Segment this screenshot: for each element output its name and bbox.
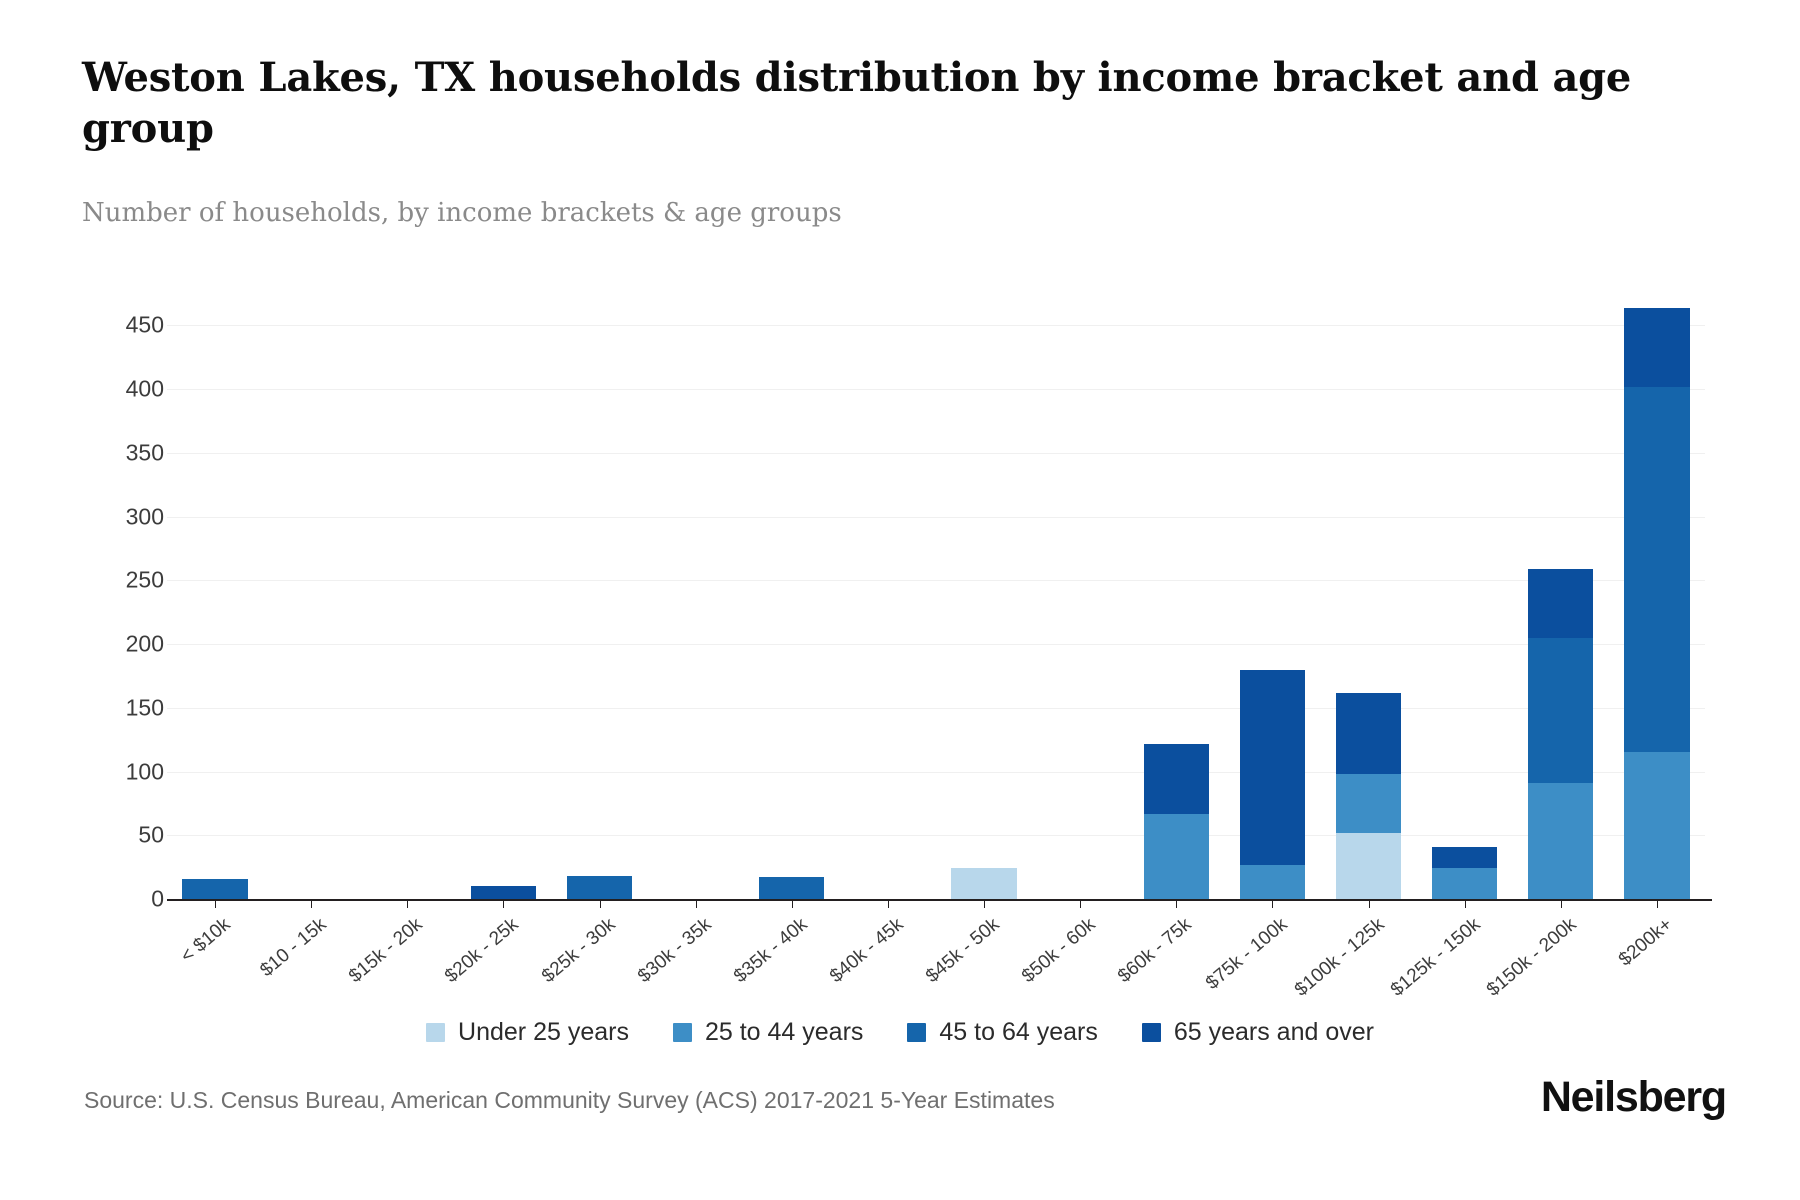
bar-group[interactable] bbox=[471, 886, 536, 899]
legend-item[interactable]: Under 25 years bbox=[426, 1018, 629, 1047]
y-axis-tick-label: 100 bbox=[44, 758, 164, 785]
y-axis-tick-label: 300 bbox=[44, 503, 164, 530]
chart-page: Weston Lakes, TX households distribution… bbox=[0, 0, 1800, 1200]
page-subtitle: Number of households, by income brackets… bbox=[82, 198, 842, 228]
x-axis-tick-label: $25k - 30k bbox=[538, 914, 620, 988]
x-axis-tick-mark bbox=[215, 899, 216, 908]
bar-segment[interactable] bbox=[1624, 387, 1689, 753]
x-axis-tick-label: $15k - 20k bbox=[345, 914, 427, 988]
x-axis-tick-label: $200k+ bbox=[1615, 914, 1677, 971]
bar-group[interactable] bbox=[1432, 847, 1497, 899]
plot-area bbox=[167, 300, 1705, 899]
x-axis-tick-mark bbox=[792, 899, 793, 908]
x-axis-tick-mark bbox=[1176, 899, 1177, 908]
bar-segment[interactable] bbox=[182, 879, 247, 899]
x-axis-line bbox=[167, 899, 1712, 901]
y-axis-tick-label: 400 bbox=[44, 376, 164, 403]
x-axis-tick-label: $75k - 100k bbox=[1202, 914, 1292, 995]
x-axis-tick-mark bbox=[1657, 899, 1658, 908]
bar-segment[interactable] bbox=[1336, 693, 1401, 775]
legend-label: 25 to 44 years bbox=[705, 1018, 863, 1047]
y-axis-tick-label: 450 bbox=[44, 312, 164, 339]
bar-segment[interactable] bbox=[1624, 308, 1689, 387]
y-axis-tick-label: 150 bbox=[44, 694, 164, 721]
bar-group[interactable] bbox=[1240, 670, 1305, 899]
x-axis-tick-label: $40k - 45k bbox=[826, 914, 908, 988]
x-axis-tick-label: $150k - 200k bbox=[1483, 914, 1581, 1001]
x-axis-tick-mark bbox=[311, 899, 312, 908]
bar-segment[interactable] bbox=[951, 868, 1016, 899]
bar-segment[interactable] bbox=[1144, 744, 1209, 814]
bar-segment[interactable] bbox=[759, 877, 824, 899]
x-axis-tick-mark bbox=[1561, 899, 1562, 908]
bar-segment[interactable] bbox=[1336, 774, 1401, 833]
x-axis-tick-mark bbox=[407, 899, 408, 908]
bar-segment[interactable] bbox=[1144, 814, 1209, 899]
bar-segment[interactable] bbox=[1336, 833, 1401, 899]
y-axis-tick-label: 200 bbox=[44, 631, 164, 658]
x-axis-tick-label: < $10k bbox=[177, 914, 235, 968]
bar-group[interactable] bbox=[759, 877, 824, 899]
legend-swatch-icon bbox=[1142, 1023, 1161, 1042]
x-axis-tick-mark bbox=[984, 899, 985, 908]
legend-swatch-icon bbox=[907, 1023, 926, 1042]
legend-swatch-icon bbox=[673, 1023, 692, 1042]
y-axis-tick-label: 350 bbox=[44, 439, 164, 466]
bar-group[interactable] bbox=[567, 876, 632, 899]
legend-label: 45 to 64 years bbox=[939, 1018, 1097, 1047]
y-axis-tick-label: 250 bbox=[44, 567, 164, 594]
legend-item[interactable]: 45 to 64 years bbox=[907, 1018, 1097, 1047]
bar-series-container bbox=[167, 300, 1705, 899]
legend-item[interactable]: 25 to 44 years bbox=[673, 1018, 863, 1047]
legend-label: 65 years and over bbox=[1174, 1018, 1374, 1047]
x-axis-tick-mark bbox=[888, 899, 889, 908]
bar-segment[interactable] bbox=[471, 886, 536, 899]
bar-segment[interactable] bbox=[1528, 783, 1593, 899]
bar-group[interactable] bbox=[1144, 744, 1209, 899]
y-axis-tick-label: 0 bbox=[44, 886, 164, 913]
x-axis-tick-mark bbox=[1369, 899, 1370, 908]
bar-group[interactable] bbox=[951, 868, 1016, 899]
bar-group[interactable] bbox=[1528, 569, 1593, 899]
x-axis-tick-mark bbox=[503, 899, 504, 908]
x-axis-tick-label: $20k - 25k bbox=[441, 914, 523, 988]
x-axis-tick-label: $100k - 125k bbox=[1290, 914, 1388, 1001]
bar-group[interactable] bbox=[1336, 693, 1401, 899]
x-axis-tick-mark bbox=[1080, 899, 1081, 908]
x-axis-tick-label: $30k - 35k bbox=[634, 914, 716, 988]
legend-label: Under 25 years bbox=[458, 1018, 629, 1047]
legend-item[interactable]: 65 years and over bbox=[1142, 1018, 1374, 1047]
brand-logo: Neilsberg bbox=[1541, 1073, 1726, 1122]
source-note: Source: U.S. Census Bureau, American Com… bbox=[84, 1087, 1055, 1114]
x-axis-tick-label: $10 - 15k bbox=[256, 914, 331, 982]
chart-legend: Under 25 years25 to 44 years45 to 64 yea… bbox=[0, 1018, 1800, 1047]
bar-group[interactable] bbox=[1624, 308, 1689, 899]
bar-segment[interactable] bbox=[1528, 569, 1593, 638]
x-axis-tick-label: $50k - 60k bbox=[1018, 914, 1100, 988]
legend-swatch-icon bbox=[426, 1023, 445, 1042]
bar-group[interactable] bbox=[182, 879, 247, 899]
x-axis-tick-label: $60k - 75k bbox=[1114, 914, 1196, 988]
x-axis-tick-mark bbox=[696, 899, 697, 908]
bar-segment[interactable] bbox=[1240, 865, 1305, 899]
y-axis-tick-label: 50 bbox=[44, 822, 164, 849]
bar-segment[interactable] bbox=[567, 876, 632, 899]
bar-segment[interactable] bbox=[1432, 868, 1497, 899]
x-axis-tick-mark bbox=[1465, 899, 1466, 908]
x-axis-tick-label: $45k - 50k bbox=[922, 914, 1004, 988]
bar-segment[interactable] bbox=[1432, 847, 1497, 869]
x-axis-tick-mark bbox=[600, 899, 601, 908]
x-axis-tick-label: $125k - 150k bbox=[1387, 914, 1485, 1001]
bar-segment[interactable] bbox=[1528, 638, 1593, 783]
x-axis-tick-label: $35k - 40k bbox=[730, 914, 812, 988]
bar-segment[interactable] bbox=[1624, 752, 1689, 899]
bar-segment[interactable] bbox=[1240, 670, 1305, 865]
x-axis-tick-mark bbox=[1272, 899, 1273, 908]
page-title: Weston Lakes, TX households distribution… bbox=[82, 52, 1702, 154]
